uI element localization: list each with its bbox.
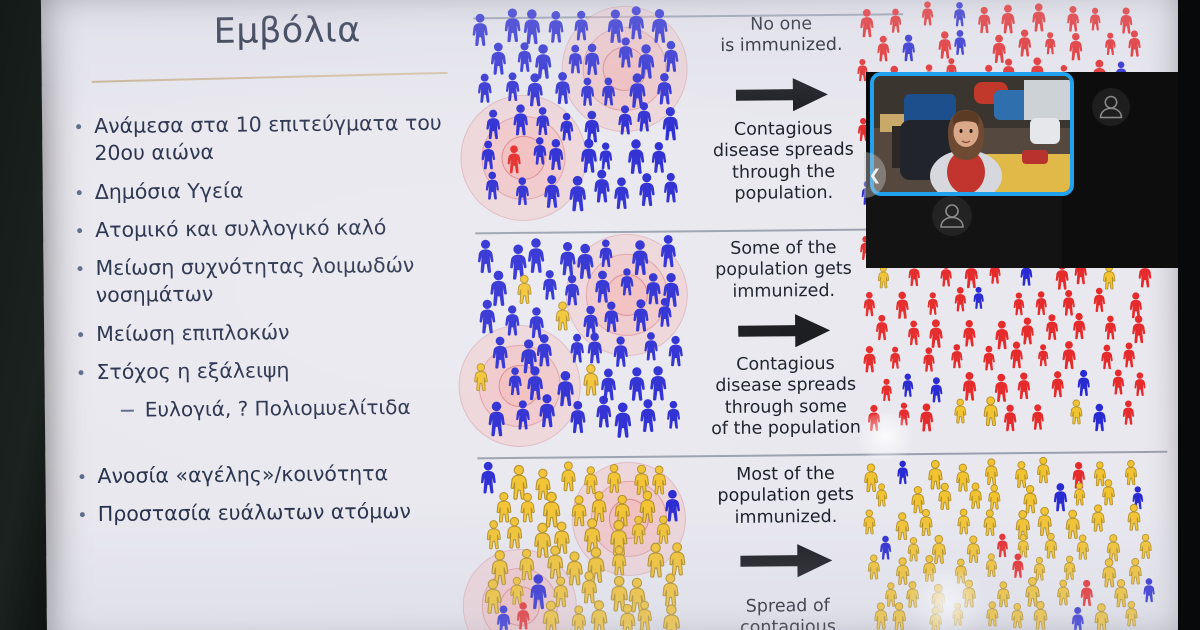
person-figure-icon bbox=[1050, 370, 1066, 397]
person-figure-icon bbox=[579, 77, 597, 107]
person-figure-icon bbox=[875, 35, 891, 62]
person-figure-icon bbox=[625, 139, 647, 175]
person-figure-icon bbox=[541, 601, 562, 630]
person-figure-icon bbox=[667, 543, 687, 577]
person-figure-icon bbox=[1068, 33, 1085, 62]
person-figure-icon bbox=[475, 73, 493, 104]
person-figure-icon bbox=[1072, 482, 1086, 505]
person-figure-icon bbox=[504, 72, 522, 102]
row-most-immunized: Most of the population gets immunized.Sp… bbox=[463, 456, 1193, 630]
person-figure-icon bbox=[920, 1, 935, 26]
person-figure-icon bbox=[658, 234, 678, 268]
person-figure-icon bbox=[569, 606, 587, 630]
person-figure-icon bbox=[952, 1, 967, 26]
bullet-dot-icon bbox=[80, 512, 85, 517]
person-figure-icon bbox=[1008, 341, 1025, 369]
bullet-dot-icon bbox=[77, 266, 82, 271]
person-figure-icon bbox=[642, 332, 660, 362]
person-figure-icon bbox=[1035, 456, 1051, 483]
person-figure-icon bbox=[634, 102, 652, 133]
person-figure-icon bbox=[567, 176, 589, 213]
bullet-item: Ατομικό και συλλογικό καλό bbox=[77, 213, 459, 244]
person-figure-icon bbox=[976, 6, 992, 34]
bullet-label: Μείωση επιπλοκών bbox=[96, 319, 290, 348]
slide-text-column: Εμβόλια Ανάμεσα στα 10 επιτεύγματα του 2… bbox=[57, 2, 463, 630]
bullet-item: Μείωση επιπλοκών bbox=[78, 317, 460, 348]
person-figure-icon bbox=[514, 400, 532, 431]
person-figure-icon bbox=[1091, 287, 1106, 312]
person-figure-icon bbox=[505, 145, 523, 174]
bullet-label: Ατομικό και συλλογικό καλό bbox=[95, 214, 386, 244]
person-figure-icon bbox=[895, 460, 910, 485]
person-figure-icon bbox=[1133, 372, 1148, 397]
person-figure-icon bbox=[936, 31, 953, 60]
person-figure-icon bbox=[918, 402, 936, 431]
person-figure-icon bbox=[1043, 533, 1059, 559]
person-figure-icon bbox=[1088, 7, 1102, 31]
person-figure-icon bbox=[568, 333, 586, 363]
person-figure-icon bbox=[484, 109, 502, 140]
person-figure-icon bbox=[1056, 579, 1072, 605]
person-figure-icon bbox=[1044, 314, 1060, 341]
person-figure-icon bbox=[626, 5, 647, 40]
person-figure-icon bbox=[648, 366, 670, 402]
person-figure-icon bbox=[952, 287, 967, 313]
person-figure-icon bbox=[1068, 399, 1083, 424]
bullet-label: Ευλογιά, ? Πολιομυελίτιδα bbox=[145, 394, 411, 423]
person-figure-icon bbox=[1075, 370, 1091, 397]
person-figure-icon bbox=[485, 520, 503, 550]
person-figure-icon bbox=[516, 275, 534, 305]
person-figure-icon bbox=[636, 601, 654, 630]
title-underline-rule bbox=[92, 72, 448, 83]
person-figure-icon bbox=[662, 173, 681, 204]
person-figure-icon bbox=[546, 10, 566, 43]
person-figure-icon bbox=[874, 483, 888, 507]
person-figure-icon bbox=[612, 177, 632, 210]
person-figure-icon bbox=[484, 171, 502, 200]
person-figure-icon bbox=[660, 574, 680, 608]
slide-title: Εμβόλια bbox=[157, 10, 417, 52]
person-figure-icon bbox=[599, 77, 617, 106]
person-figure-icon bbox=[478, 461, 498, 494]
person-figure-icon bbox=[985, 602, 1000, 627]
person-figure-icon bbox=[1091, 403, 1108, 432]
caption-top: Most of the population gets immunized. bbox=[709, 464, 862, 529]
person-figure-icon bbox=[585, 332, 604, 364]
person-figure-icon bbox=[906, 320, 921, 346]
person-figure-icon bbox=[1122, 342, 1138, 368]
person-figure-icon bbox=[473, 364, 490, 392]
person-figure-icon bbox=[592, 169, 613, 204]
caption-bottom: Contagious disease spreads through some … bbox=[702, 354, 869, 441]
person-figure-icon bbox=[1093, 603, 1111, 630]
person-figure-icon bbox=[1120, 400, 1135, 425]
person-figure-icon bbox=[1071, 313, 1087, 341]
person-figure-icon bbox=[649, 9, 670, 44]
person-figure-icon bbox=[921, 347, 936, 373]
person-figure-icon bbox=[1099, 344, 1114, 370]
person-figure-icon bbox=[888, 9, 903, 34]
bullet-dash-icon bbox=[121, 410, 134, 412]
person-figure-icon bbox=[660, 106, 681, 141]
person-figure-icon bbox=[540, 269, 559, 300]
person-figure-icon bbox=[1060, 341, 1078, 370]
person-figure-icon bbox=[534, 106, 552, 135]
person-figure-icon bbox=[602, 301, 621, 333]
person-figure-icon bbox=[507, 367, 524, 396]
person-figure-icon bbox=[546, 138, 565, 171]
bullet-spacer bbox=[79, 429, 461, 463]
person-figure-icon bbox=[638, 398, 659, 432]
person-figure-icon bbox=[929, 377, 945, 403]
person-figure-icon bbox=[588, 600, 609, 630]
person-figure-icon bbox=[1101, 264, 1116, 290]
person-figure-icon bbox=[1075, 534, 1090, 560]
person-figure-icon bbox=[1043, 32, 1057, 55]
person-figure-icon bbox=[1123, 601, 1138, 627]
person-figure-icon bbox=[477, 299, 498, 334]
person-figure-icon bbox=[1036, 507, 1054, 537]
person-figure-icon bbox=[937, 483, 953, 511]
caption-bottom: Contagious disease spreads through the p… bbox=[700, 119, 867, 206]
person-figure-icon bbox=[1142, 578, 1157, 603]
bullet-dot-icon bbox=[78, 332, 83, 337]
person-figure-icon bbox=[612, 336, 631, 368]
person-figure-icon bbox=[953, 30, 969, 56]
bullet-dot-icon bbox=[78, 370, 83, 375]
person-figure-icon bbox=[1030, 2, 1048, 32]
legend-caption-partial: but still healthy bbox=[489, 0, 622, 1]
person-avatar-glyph bbox=[1092, 88, 1130, 126]
bullet-item: Ανοσία «αγέλης»/κοινότητα bbox=[79, 459, 461, 490]
person-figure-icon bbox=[503, 305, 522, 337]
person-figure-icon bbox=[1011, 553, 1026, 579]
person-figure-icon bbox=[1012, 292, 1026, 316]
person-figure-icon bbox=[568, 401, 588, 435]
person-figure-icon bbox=[880, 378, 894, 401]
person-figure-icon bbox=[876, 266, 890, 289]
bullet-label: Ανοσία «αγέλης»/κοινότητα bbox=[97, 460, 388, 490]
person-figure-icon bbox=[972, 287, 986, 310]
person-figure-icon bbox=[630, 516, 647, 545]
person-figure-icon bbox=[515, 42, 534, 73]
crowd-before bbox=[477, 461, 701, 630]
person-figure-icon bbox=[656, 297, 674, 327]
person-figure-icon bbox=[866, 555, 881, 580]
person-figure-icon bbox=[511, 104, 530, 137]
bullet-item: Μείωση συχνότητας λοιμωδών νοσημάτων bbox=[77, 252, 460, 310]
person-figure-icon bbox=[1010, 603, 1025, 629]
person-figure-icon bbox=[490, 336, 510, 370]
arrow-right-icon bbox=[736, 76, 828, 114]
person-figure-icon bbox=[1130, 315, 1147, 344]
person-figure-icon bbox=[928, 607, 944, 630]
caption-top: No one is immunized. bbox=[705, 14, 857, 58]
person-figure-icon bbox=[927, 319, 945, 349]
person-figure-icon bbox=[1034, 290, 1049, 315]
speaker-video-frame bbox=[874, 76, 1070, 192]
bullet-item: Δημόσια Υγεία bbox=[77, 175, 459, 206]
room-dark-right-edge bbox=[1178, 0, 1200, 630]
person-figure-icon bbox=[888, 346, 902, 369]
bullet-item: Ανάμεσα στα 10 επιτεύγματα του 20ου αιών… bbox=[76, 110, 459, 168]
person-figure-icon bbox=[592, 270, 612, 304]
crowd-after bbox=[863, 457, 1165, 630]
person-figure-icon bbox=[1062, 556, 1077, 581]
person-figure-icon bbox=[1065, 5, 1081, 32]
person-figure-icon bbox=[661, 604, 682, 630]
person-figure-icon bbox=[598, 142, 615, 170]
person-figure-icon bbox=[521, 8, 543, 45]
active-speaker-tile[interactable] bbox=[870, 72, 1074, 196]
projected-presentation-scene: Εμβόλια Ανάμεσα στα 10 επιτεύγματα του 2… bbox=[0, 0, 1200, 630]
person-figure-icon bbox=[1002, 404, 1019, 432]
person-figure-icon bbox=[901, 373, 916, 397]
person-figure-icon bbox=[893, 291, 910, 320]
person-figure-icon bbox=[581, 364, 600, 396]
person-figure-icon bbox=[926, 292, 940, 316]
caption-bottom: Spread of contagious bbox=[705, 596, 871, 630]
bullet-label: Προστασία ευάλωτων ατόμων bbox=[98, 498, 411, 528]
person-figure-icon bbox=[572, 10, 591, 41]
person-avatar-icon bbox=[932, 196, 972, 236]
person-figure-icon bbox=[618, 268, 635, 296]
person-figure-icon bbox=[1052, 483, 1070, 513]
person-figure-icon bbox=[861, 291, 876, 316]
arrow-right-icon bbox=[738, 312, 830, 350]
bullet-item: Στόχος η εξάλειψη bbox=[78, 355, 460, 386]
caption-top: Some of the population gets immunized. bbox=[707, 238, 860, 303]
person-avatar-glyph bbox=[932, 196, 972, 236]
person-figure-icon bbox=[470, 13, 490, 47]
person-figure-icon bbox=[1138, 534, 1153, 559]
person-figure-icon bbox=[858, 9, 876, 39]
person-figure-icon bbox=[1103, 32, 1117, 56]
person-figure-icon bbox=[1103, 315, 1118, 340]
person-figure-icon bbox=[616, 36, 635, 68]
person-figure-icon bbox=[654, 516, 671, 545]
person-figure-icon bbox=[983, 459, 999, 486]
person-figure-icon bbox=[1106, 534, 1123, 562]
bullet-dot-icon bbox=[79, 474, 84, 479]
person-figure-icon bbox=[552, 72, 572, 106]
person-figure-icon bbox=[918, 509, 934, 536]
person-figure-icon bbox=[612, 402, 634, 439]
person-figure-icon bbox=[986, 485, 1001, 511]
person-figure-icon bbox=[666, 336, 685, 368]
person-figure-icon bbox=[861, 510, 876, 535]
person-figure-icon bbox=[1016, 372, 1033, 400]
crowd-before bbox=[475, 235, 699, 453]
bullet-label: Ανάμεσα στα 10 επιτεύγματα του 20ου αιών… bbox=[94, 110, 459, 168]
person-figure-icon bbox=[982, 397, 1000, 427]
person-figure-icon bbox=[627, 366, 648, 401]
person-figure-icon bbox=[525, 73, 546, 108]
person-figure-icon bbox=[1030, 404, 1046, 431]
person-figure-icon bbox=[514, 177, 531, 206]
person-figure-icon bbox=[897, 402, 911, 426]
person-figure-icon bbox=[558, 112, 575, 141]
person-figure-icon bbox=[566, 44, 584, 74]
person-figure-icon bbox=[922, 555, 938, 582]
person-figure-icon bbox=[1126, 29, 1142, 57]
person-figure-icon bbox=[655, 73, 675, 106]
bullet-label: Δημόσια Υγεία bbox=[95, 177, 244, 206]
person-figure-icon bbox=[515, 601, 532, 629]
person-figure-icon bbox=[865, 405, 881, 432]
chevron-left-icon: ❮ bbox=[869, 168, 882, 183]
bullet-item: Ευλογιά, ? Πολιομυελίτιδα bbox=[121, 394, 461, 424]
person-figure-icon bbox=[861, 345, 878, 373]
person-figure-icon bbox=[631, 298, 651, 332]
person-figure-icon bbox=[874, 315, 890, 342]
arrow-right-icon bbox=[740, 542, 832, 580]
person-figure-icon bbox=[967, 483, 983, 510]
person-figure-icon bbox=[873, 603, 889, 630]
person-figure-icon bbox=[961, 319, 978, 347]
person-figure-icon bbox=[956, 509, 972, 535]
person-figure-icon bbox=[617, 604, 637, 630]
person-figure-icon bbox=[637, 173, 658, 208]
person-figure-icon bbox=[1100, 480, 1116, 507]
person-figure-icon bbox=[661, 40, 680, 73]
person-figure-icon bbox=[594, 395, 614, 429]
person-figure-icon bbox=[1070, 607, 1086, 630]
person-figure-icon bbox=[649, 141, 668, 173]
person-figure-icon bbox=[1123, 460, 1138, 486]
person-figure-icon bbox=[537, 394, 558, 429]
person-figure-icon bbox=[1032, 601, 1049, 630]
person-figure-icon bbox=[616, 105, 634, 136]
person-figure-icon bbox=[999, 4, 1017, 34]
crowd-before bbox=[473, 5, 697, 229]
person-figure-icon bbox=[982, 345, 997, 371]
person-figure-icon bbox=[606, 463, 623, 492]
person-figure-icon bbox=[1090, 505, 1107, 533]
person-figure-icon bbox=[583, 466, 600, 494]
person-figure-icon bbox=[559, 461, 577, 491]
person-figure-icon bbox=[502, 7, 523, 42]
person-figure-icon bbox=[1036, 344, 1050, 367]
person-figure-icon bbox=[953, 398, 968, 423]
person-figure-icon bbox=[583, 44, 603, 77]
bullet-dot-icon bbox=[76, 124, 81, 129]
person-figure-icon bbox=[494, 605, 512, 630]
person-figure-icon bbox=[949, 344, 964, 369]
person-figure-icon bbox=[1110, 369, 1126, 395]
person-figure-icon bbox=[534, 334, 554, 368]
person-figure-icon bbox=[480, 140, 498, 170]
person-figure-icon bbox=[505, 516, 524, 548]
person-figure-icon bbox=[542, 175, 563, 209]
person-figure-icon bbox=[1016, 29, 1033, 57]
person-figure-icon bbox=[475, 240, 496, 275]
person-figure-icon bbox=[664, 400, 681, 429]
bullet-list: Ανάμεσα στα 10 επιτεύγματα του 20ου αιών… bbox=[76, 110, 462, 540]
bullet-label: Στόχος η εξάλειψη bbox=[96, 357, 289, 386]
person-figure-icon bbox=[486, 401, 508, 437]
person-avatar-icon bbox=[1092, 88, 1130, 126]
person-figure-icon bbox=[1126, 504, 1142, 531]
person-figure-icon bbox=[984, 553, 998, 577]
person-figure-icon bbox=[597, 239, 614, 268]
person-figure-icon bbox=[951, 602, 965, 625]
video-conference-overlay bbox=[866, 72, 1178, 268]
person-figure-icon bbox=[554, 301, 572, 330]
person-figure-icon bbox=[901, 34, 918, 62]
bullet-dot-icon bbox=[77, 228, 82, 233]
bullet-item: Προστασία ευάλωτων ατόμων bbox=[80, 497, 462, 528]
person-figure-icon bbox=[961, 372, 979, 402]
bullet-dot-icon bbox=[77, 190, 82, 195]
person-figure-icon bbox=[890, 602, 907, 630]
person-figure-icon bbox=[610, 546, 628, 576]
bullet-label: Μείωση συχνότητας λοιμωδών νοσημάτων bbox=[95, 252, 460, 310]
